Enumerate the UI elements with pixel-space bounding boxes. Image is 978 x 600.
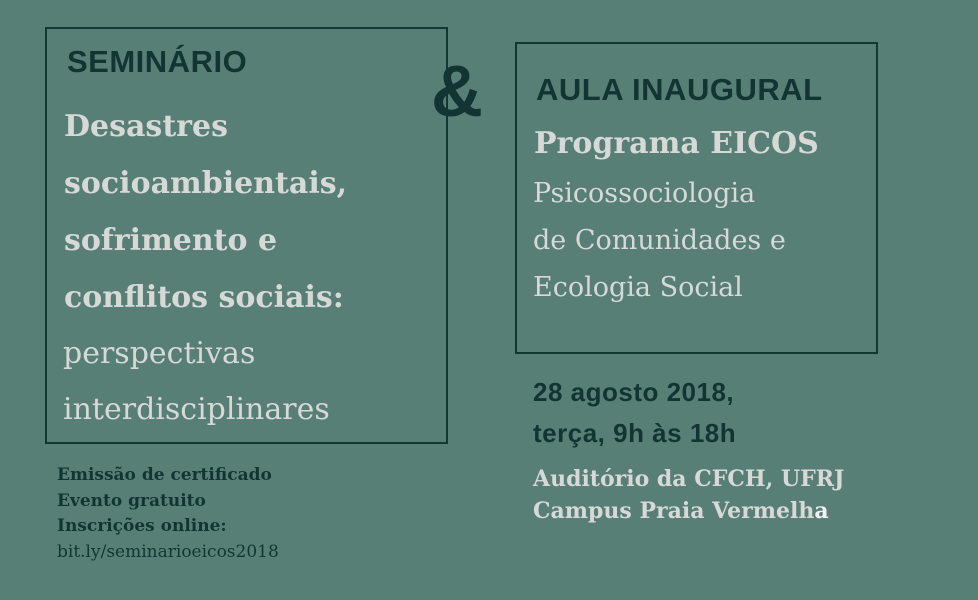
- event-venue: Auditório da CFCH, UFRJ Campus Praia Ver…: [533, 463, 893, 527]
- program-description: Psicossociologia de Comunidades e Ecolog…: [533, 170, 863, 311]
- info-line-certificate: Emissão de certificado: [57, 463, 437, 489]
- seminario-title-line-3: sofrimento e: [64, 212, 434, 269]
- program-name: Programa EICOS: [534, 122, 819, 166]
- registration-url-link[interactable]: bit.ly/seminarioeicos2018: [57, 540, 437, 566]
- seminario-title-line-1: Desastres: [64, 98, 434, 155]
- ampersand-separator: &: [431, 56, 483, 128]
- seminario-kicker: SEMINÁRIO: [67, 44, 247, 80]
- seminario-subtitle: perspectivas interdisciplinares: [63, 326, 443, 438]
- seminario-title-line-4: conflitos sociais:: [64, 269, 434, 326]
- venue-campus: Campus Praia Vermelha: [533, 495, 893, 527]
- venue-campus-accent: a: [814, 498, 828, 524]
- event-date: 28 agosto 2018,: [533, 372, 873, 413]
- info-line-free-event: Evento gratuito: [57, 489, 437, 515]
- program-description-line-3: Ecologia Social: [533, 264, 863, 311]
- program-description-line-1: Psicossociologia: [533, 170, 863, 217]
- program-description-line-2: de Comunidades e: [533, 217, 863, 264]
- poster-canvas: SEMINÁRIO Desastres socioambientais, sof…: [0, 0, 978, 600]
- venue-building: Auditório da CFCH, UFRJ: [533, 463, 893, 495]
- aula-inaugural-kicker: AULA INAUGURAL: [536, 72, 823, 108]
- event-time: terça, 9h às 18h: [533, 413, 873, 454]
- seminario-title: Desastres socioambientais, sofrimento e …: [64, 98, 434, 326]
- venue-campus-text: Campus Praia Vermelh: [533, 498, 814, 524]
- seminario-subtitle-line-1: perspectivas: [63, 326, 443, 382]
- event-date-time: 28 agosto 2018, terça, 9h às 18h: [533, 372, 873, 454]
- info-line-signup: Inscrições online:: [57, 514, 437, 540]
- seminario-title-line-2: socioambientais,: [64, 155, 434, 212]
- registration-info: Emissão de certificado Evento gratuito I…: [57, 463, 437, 565]
- seminario-subtitle-line-2: interdisciplinares: [63, 382, 443, 438]
